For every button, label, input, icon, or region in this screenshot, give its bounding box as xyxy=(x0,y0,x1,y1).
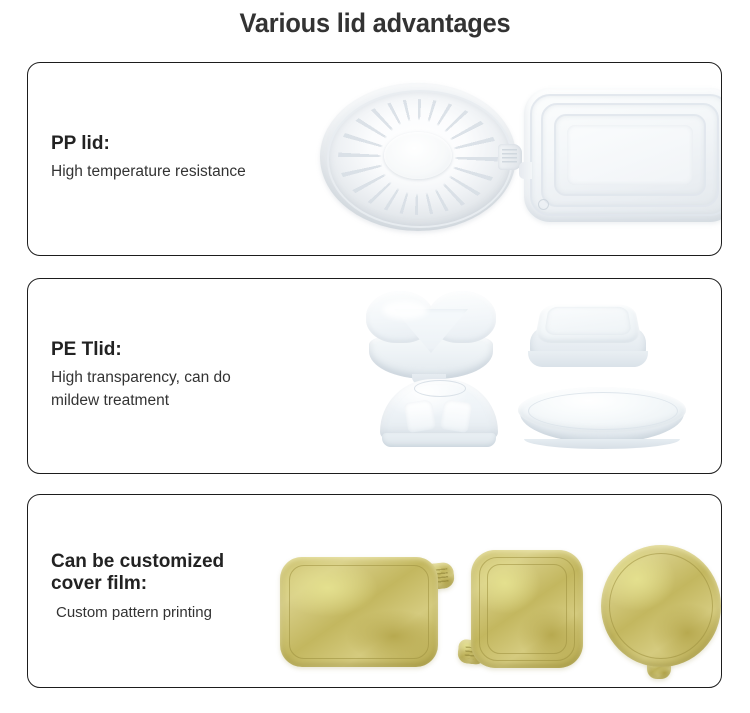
lid-rim xyxy=(327,90,513,227)
foil-edge-ridge-outer xyxy=(479,557,575,661)
dome-cap xyxy=(380,379,498,439)
lid-top xyxy=(518,387,686,433)
lid-ridge-outer xyxy=(530,94,722,216)
page-title: Various lid advantages xyxy=(23,8,728,39)
lid-skirt xyxy=(530,327,646,365)
foil-body xyxy=(471,550,583,668)
foil-body xyxy=(280,557,438,667)
pe-lid-text-block: PE Tlid: High transparency, can do milde… xyxy=(51,339,231,412)
lid-ridge-middle xyxy=(541,103,719,207)
foil-pull-tab xyxy=(647,657,671,679)
pe-lid-description: High transparency, can do mildew treatme… xyxy=(51,367,231,412)
dome-facet-right xyxy=(440,399,472,433)
square-pe-lid-image xyxy=(528,289,648,375)
dome-top-ring xyxy=(414,380,466,397)
heart-lobe-right xyxy=(428,291,496,343)
pp-lid-text-block: PP lid: High temperature resistance xyxy=(51,133,246,184)
lid-disc xyxy=(320,83,516,231)
lid-highlight xyxy=(382,301,428,319)
panel-pp-lid: PP lid: High temperature resistance xyxy=(27,62,722,256)
dome-facet-left xyxy=(404,399,436,433)
foil-edge-ridge xyxy=(289,565,429,659)
lid-corner-mark xyxy=(538,199,549,210)
panel-cover-film: Can be customized cover film: Custom pat… xyxy=(27,494,722,688)
dome-pe-lid-image xyxy=(380,379,498,447)
foil-pull-tab xyxy=(457,639,487,666)
pp-lid-heading: PP lid: xyxy=(51,133,246,155)
square-gold-foil-lid-image xyxy=(471,550,583,668)
lid-radial-ribs xyxy=(338,99,499,214)
cover-film-description: Custom pattern printing xyxy=(51,602,224,624)
round-gold-foil-lid-image xyxy=(601,545,721,667)
lid-top xyxy=(366,291,496,353)
round-ribbed-pp-lid-image xyxy=(320,83,516,231)
lid-skirt xyxy=(520,411,684,443)
lid-base xyxy=(369,331,493,379)
cover-film-text-block: Can be customized cover film: Custom pat… xyxy=(51,551,224,624)
panel-pe-lid: PE Tlid: High transparency, can do milde… xyxy=(27,278,722,474)
lid-inner-panel xyxy=(567,125,693,185)
rectangular-pp-lid-image xyxy=(524,88,722,222)
lid-pull-tab xyxy=(498,144,522,170)
dome-base-ring xyxy=(382,433,496,447)
lid-top xyxy=(534,305,642,343)
lid-foot xyxy=(412,374,446,384)
lid-lip xyxy=(528,351,648,367)
foil-body xyxy=(601,545,721,667)
lid-center-hub xyxy=(384,132,453,179)
foil-edge-ridge-inner xyxy=(487,564,567,654)
cover-film-heading: Can be customized cover film: xyxy=(51,551,224,596)
heart-point xyxy=(394,309,468,353)
rectangular-gold-foil-lid-image xyxy=(280,557,438,667)
lid-shell xyxy=(524,88,722,222)
pp-lid-description: High temperature resistance xyxy=(51,161,246,183)
oval-pe-lid-image xyxy=(518,387,686,449)
foil-pull-tab xyxy=(423,562,456,591)
lid-inner-panel xyxy=(544,307,632,335)
lid-ridge-inner xyxy=(554,114,706,196)
heart-shaped-pe-lid-image xyxy=(366,291,496,379)
lid-side-notch xyxy=(519,162,532,179)
lid-ridge xyxy=(528,392,678,430)
lid-lip xyxy=(524,439,680,449)
pe-lid-heading: PE Tlid: xyxy=(51,339,231,361)
foil-edge-ridge xyxy=(609,553,713,659)
heart-lobe-left xyxy=(366,291,434,343)
